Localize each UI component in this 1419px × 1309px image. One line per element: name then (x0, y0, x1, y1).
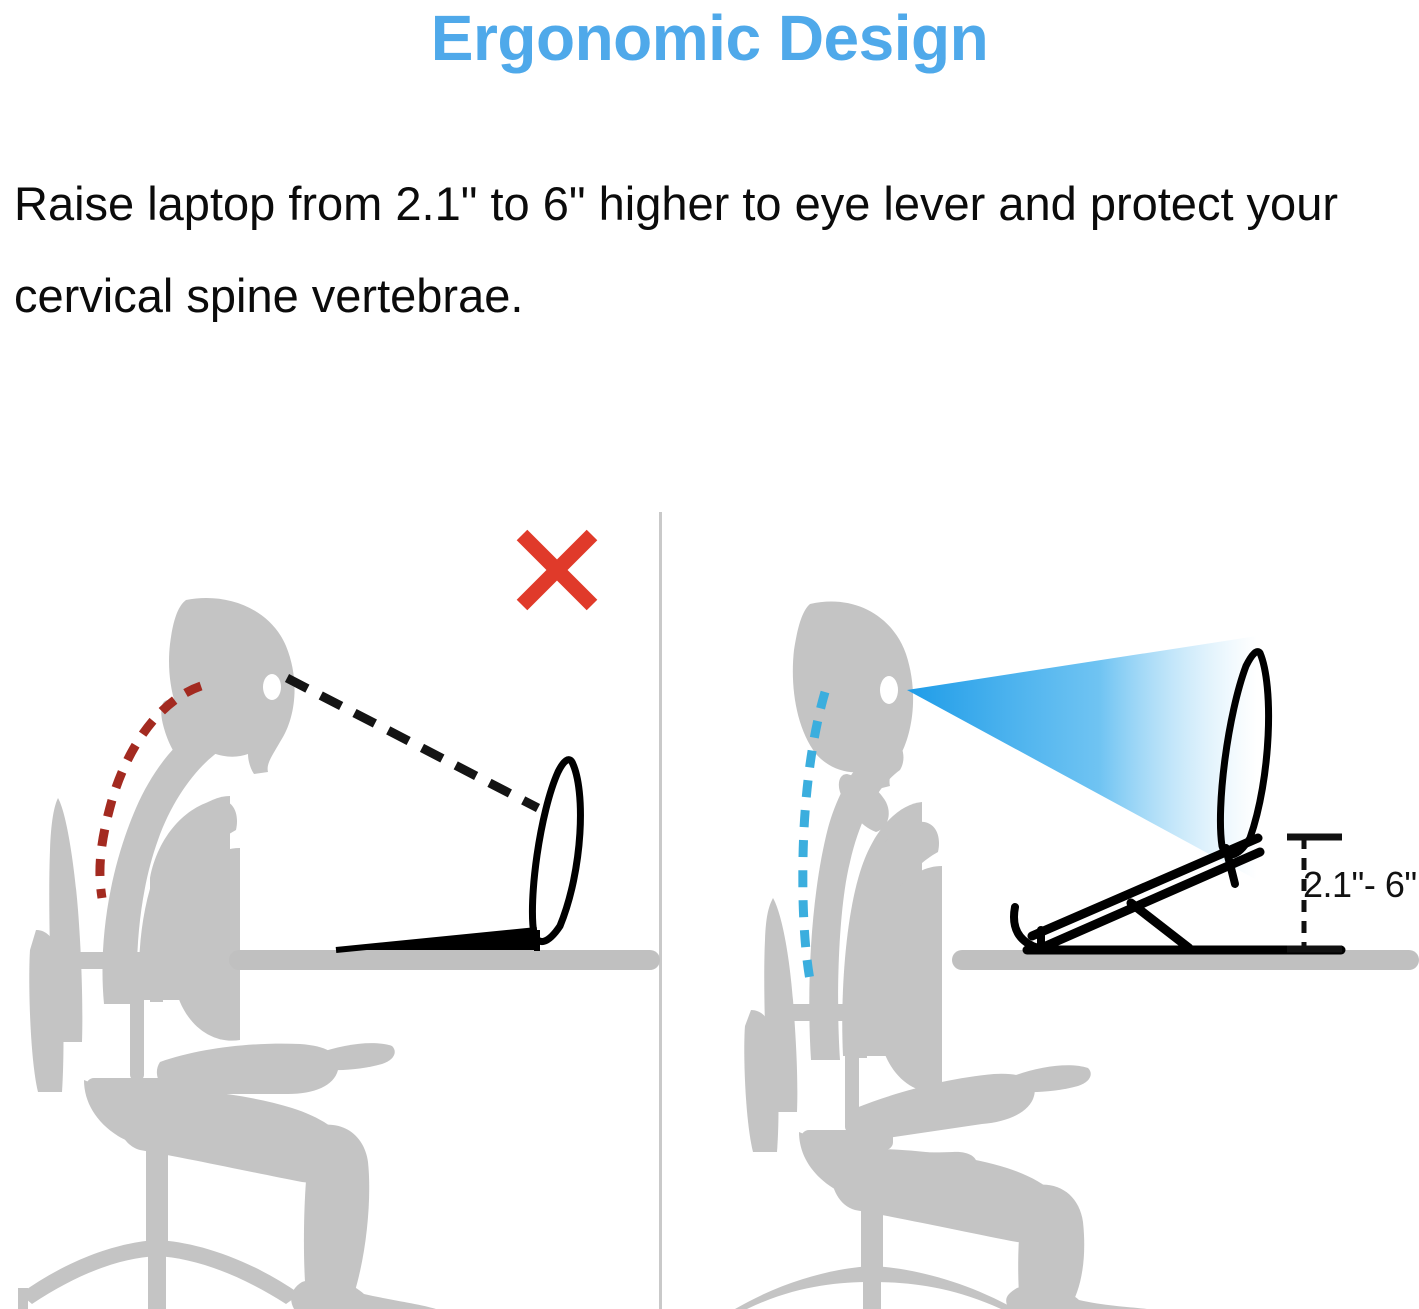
eye-bad (263, 674, 281, 700)
bad-posture-illustration (0, 0, 660, 1309)
person-figure-good (809, 738, 1147, 1309)
infographic-page: Ergonomic Design Raise laptop from 2.1" … (0, 0, 1419, 1309)
desk-bad (229, 950, 660, 970)
sight-line-bad (287, 678, 538, 808)
panel-good-posture (660, 0, 1419, 1309)
eye-good (880, 676, 898, 704)
laptop-stand (1014, 838, 1341, 950)
panel-bad-posture (0, 0, 660, 1309)
vision-cone (907, 636, 1257, 880)
laptop-bad (336, 760, 580, 951)
good-posture-illustration (660, 0, 1419, 1309)
height-dimension-label: 2.1"- 6" (1303, 864, 1417, 906)
red-cross-icon (513, 526, 601, 614)
